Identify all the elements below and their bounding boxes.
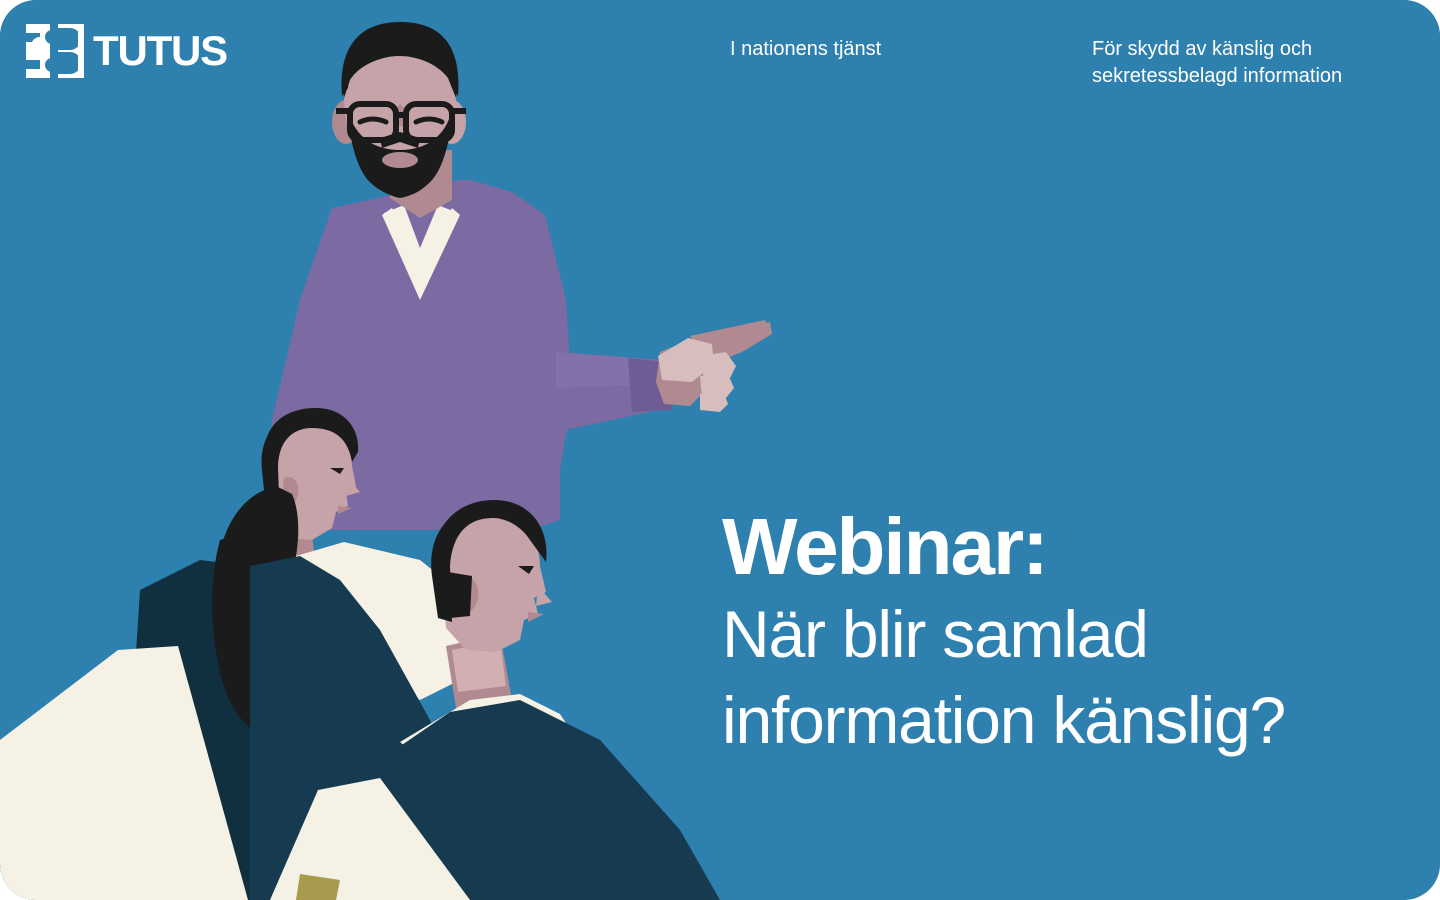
brand-wordmark: TUTUS <box>93 30 227 72</box>
tagline-right: För skydd av känslig och sekretessbelagd… <box>1092 36 1342 90</box>
lecture-audience-illustration <box>0 0 1440 900</box>
tutus-logo-mark-icon <box>26 24 84 78</box>
webinar-banner: TUTUS I nationens tjänst För skydd av kä… <box>0 0 1440 900</box>
brand-logo[interactable]: TUTUS <box>26 24 227 78</box>
tagline-center: I nationens tjänst <box>730 36 881 63</box>
page-title: Webinar: När blir samlad information kän… <box>722 505 1285 763</box>
title-subtitle: När blir samlad information känslig? <box>722 591 1285 763</box>
title-main: Webinar: <box>722 505 1285 589</box>
